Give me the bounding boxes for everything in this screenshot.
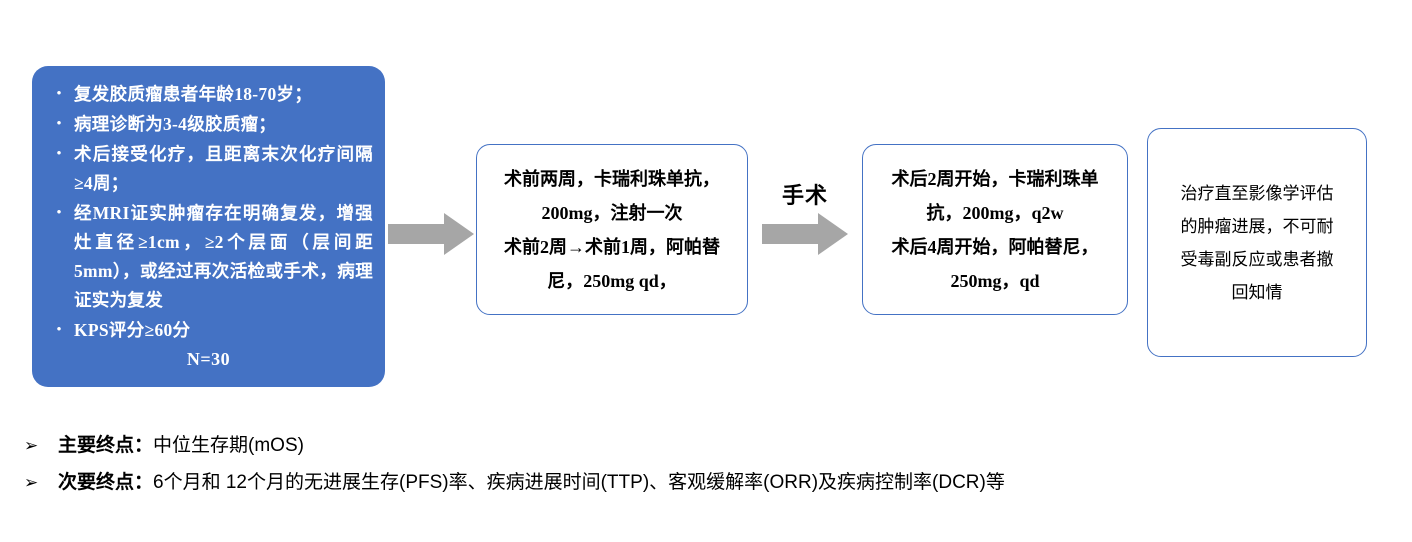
bullet-icon: • [44,80,74,109]
followup-line: 受毒副反应或患者撤 [1181,243,1334,276]
postop-line: 术后4周开始，阿帕替尼， [892,230,1099,264]
enrollment-to-preop-arrow-icon [388,213,474,260]
followup-line: 回知情 [1181,276,1334,309]
surgery-to-postop-arrow-icon [762,213,848,260]
secondary-endpoint-label: 次要终点： [58,469,153,497]
primary-endpoint-value: 中位生存期(mOS) [153,432,304,460]
primary-endpoint-row: ➢ 主要终点： 中位生存期(mOS) [24,432,1384,460]
postop-line: 抗，200mg，q2w [892,196,1099,230]
bullet-icon: • [44,140,74,169]
bullet-icon: • [44,199,74,228]
criteria-item: • 复发胶质瘤患者年龄18-70岁； [44,80,373,109]
eligibility-criteria-box: • 复发胶质瘤患者年龄18-70岁； • 病理诊断为3-4级胶质瘤； • 术后接… [32,66,385,387]
secondary-endpoint-value: 6个月和 12个月的无进展生存(PFS)率、疾病进展时间(TTP)、客观缓解率(… [153,469,1005,497]
preop-line: 尼，250mg qd， [504,264,720,298]
followup-text: 治疗直至影像学评估 的肿瘤进展，不可耐 受毒副反应或患者撤 回知情 [1181,177,1334,309]
criteria-item: • 病理诊断为3-4级胶质瘤； [44,110,373,139]
study-endpoints-section: ➢ 主要终点： 中位生存期(mOS) ➢ 次要终点： 6个月和 12个月的无进展… [24,432,1384,506]
postop-line: 250mg，qd [892,264,1099,298]
preop-line: 术前两周，卡瑞利珠单抗， [504,162,720,196]
sample-size-label: N=30 [44,349,373,370]
secondary-endpoint-row: ➢ 次要终点： 6个月和 12个月的无进展生存(PFS)率、疾病进展时间(TTP… [24,469,1384,497]
treatment-until-progression-box: 治疗直至影像学评估 的肿瘤进展，不可耐 受毒副反应或患者撤 回知情 [1147,128,1367,357]
criteria-text: 病理诊断为3-4级胶质瘤； [74,110,373,139]
criteria-text: KPS评分≥60分 [74,316,373,345]
preop-line: 200mg，注射一次 [504,196,720,230]
followup-line: 的肿瘤进展，不可耐 [1181,210,1334,243]
surgery-step-label: 手术 [762,178,848,210]
primary-endpoint-label: 主要终点： [58,432,153,460]
postop-line: 术后2周开始，卡瑞利珠单 [892,162,1099,196]
bullet-icon: • [44,110,74,139]
preoperative-treatment-box: 术前两周，卡瑞利珠单抗， 200mg，注射一次 术前2周→术前1周，阿帕替 尼，… [476,144,748,315]
preop-line: 术前2周→术前1周，阿帕替 [504,230,720,264]
arrow-bullet-icon: ➢ [24,432,58,460]
postoperative-treatment-box: 术后2周开始，卡瑞利珠单 抗，200mg，q2w 术后4周开始，阿帕替尼， 25… [862,144,1128,315]
criteria-item: • 术后接受化疗，且距离末次化疗间隔≥4周； [44,140,373,198]
study-design-flow-diagram: • 复发胶质瘤患者年龄18-70岁； • 病理诊断为3-4级胶质瘤； • 术后接… [0,0,1412,420]
eligibility-criteria-list: • 复发胶质瘤患者年龄18-70岁； • 病理诊断为3-4级胶质瘤； • 术后接… [44,80,373,345]
followup-line: 治疗直至影像学评估 [1181,177,1334,210]
bullet-icon: • [44,316,74,345]
criteria-text: 术后接受化疗，且距离末次化疗间隔≥4周； [74,140,373,198]
criteria-item: • 经MRI证实肿瘤存在明确复发，增强灶直径≥1cm，≥2个层面（层间距5mm）… [44,199,373,315]
postop-treatment-text: 术后2周开始，卡瑞利珠单 抗，200mg，q2w 术后4周开始，阿帕替尼， 25… [892,162,1099,298]
preop-treatment-text: 术前两周，卡瑞利珠单抗， 200mg，注射一次 术前2周→术前1周，阿帕替 尼，… [504,162,720,298]
criteria-text: 复发胶质瘤患者年龄18-70岁； [74,80,373,109]
criteria-item: • KPS评分≥60分 [44,316,373,345]
arrow-bullet-icon: ➢ [24,469,58,497]
criteria-text: 经MRI证实肿瘤存在明确复发，增强灶直径≥1cm，≥2个层面（层间距5mm），或… [74,199,373,315]
